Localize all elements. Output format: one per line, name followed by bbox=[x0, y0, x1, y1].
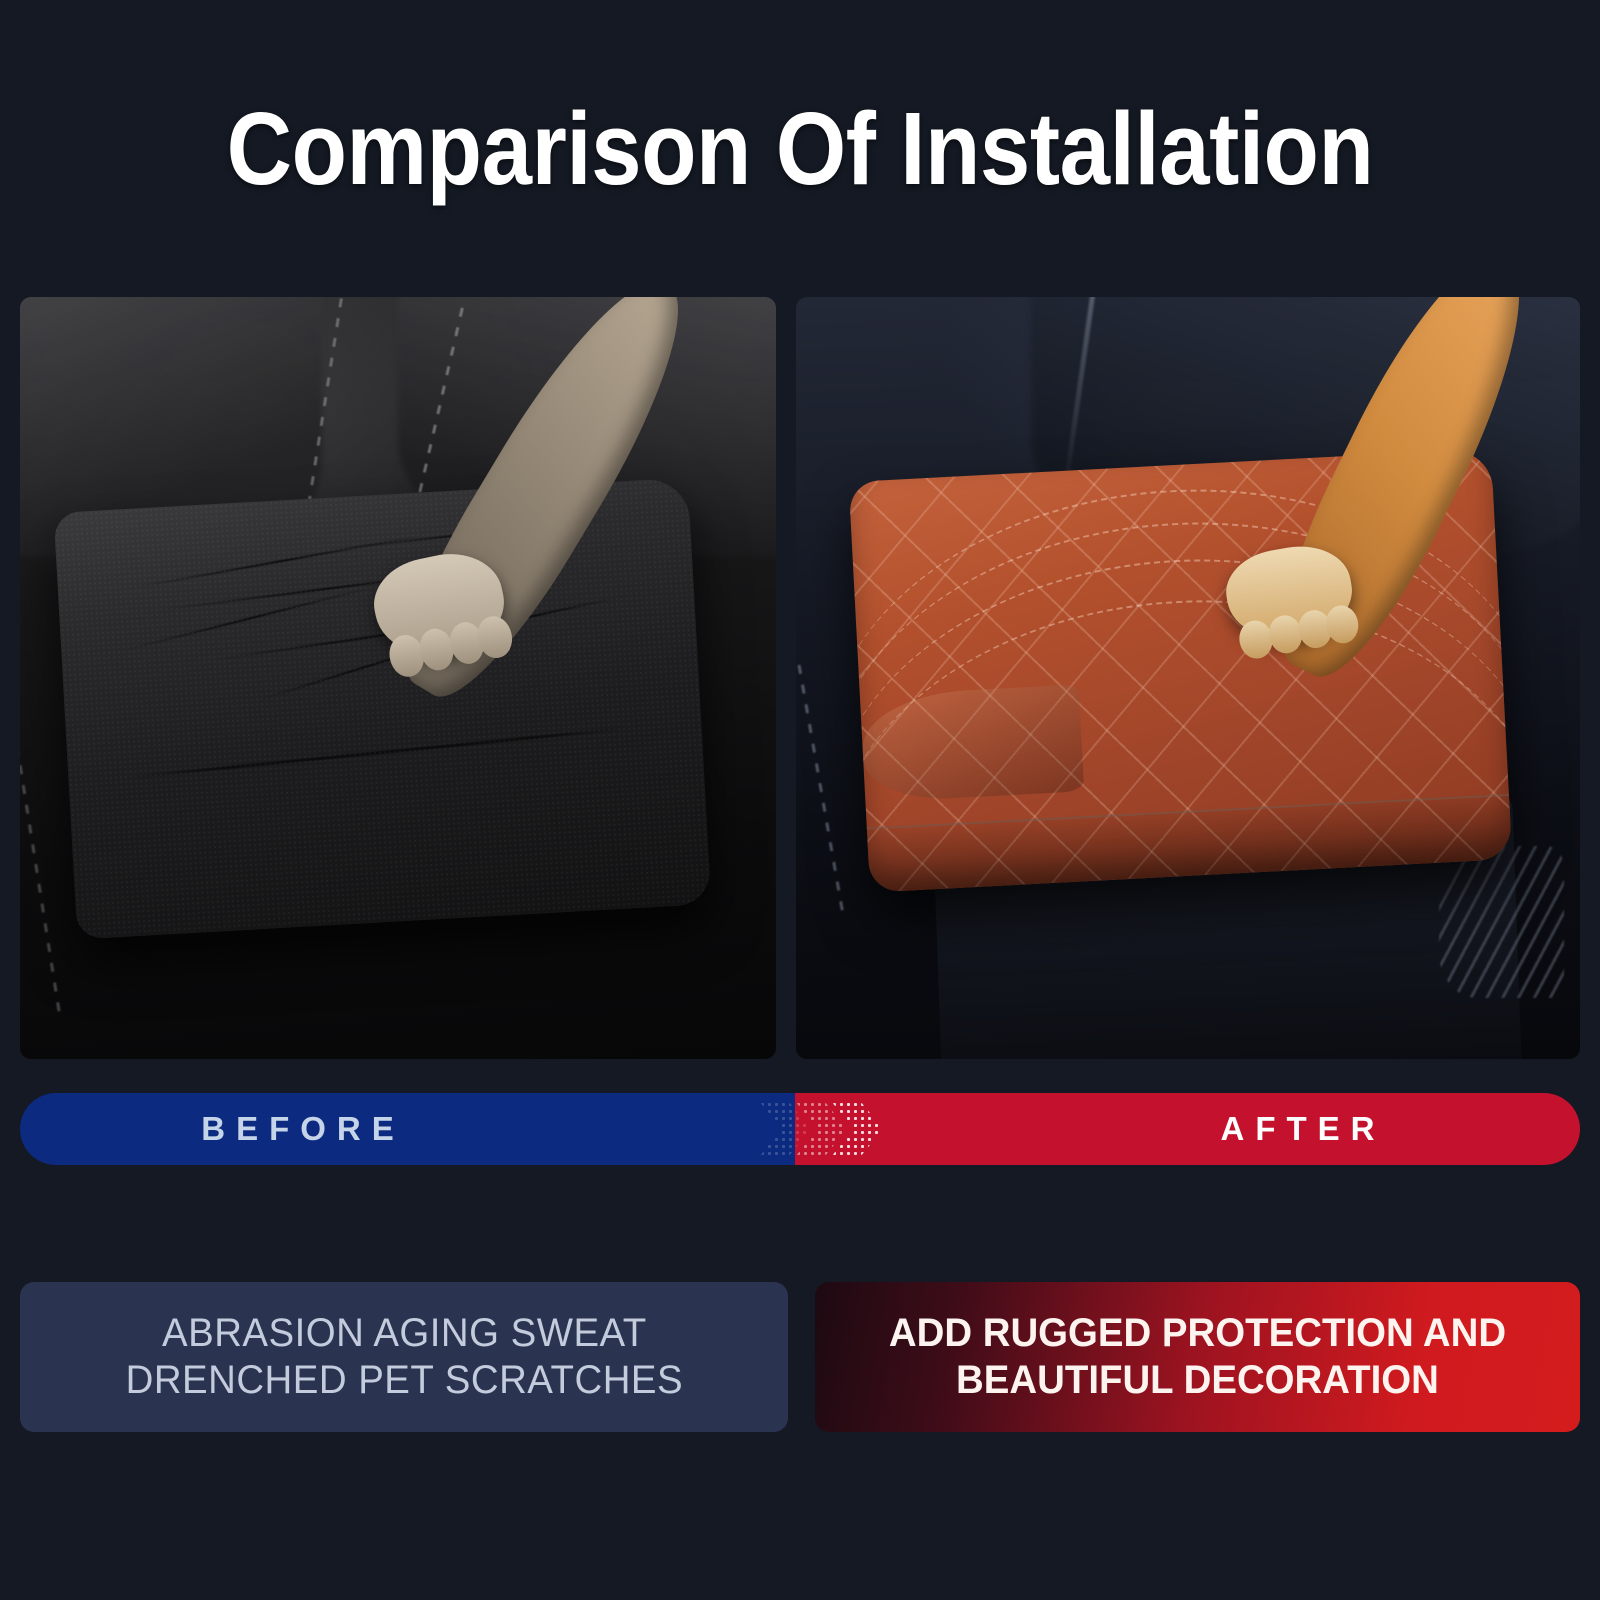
scratch-mark bbox=[127, 586, 374, 650]
before-label: BEFORE bbox=[201, 1110, 405, 1148]
after-caption-text: ADD RUGGED PROTECTION AND BEAUTIFUL DECO… bbox=[889, 1310, 1506, 1404]
product-comparison-page: Comparison Of Installation bbox=[0, 0, 1600, 1600]
before-caption-line1: ABRASION AGING SWEAT bbox=[162, 1311, 647, 1355]
after-caption-line2: BEAUTIFUL DECORATION bbox=[956, 1358, 1439, 1402]
dashboard-vent bbox=[1439, 846, 1564, 998]
banner-before-half: BEFORE bbox=[20, 1093, 795, 1165]
after-caption-line1: ADD RUGGED PROTECTION AND bbox=[889, 1311, 1506, 1355]
before-photo-scene bbox=[20, 297, 776, 1059]
before-photo bbox=[20, 297, 776, 1059]
banner-after-half: AFTER bbox=[795, 1093, 1580, 1165]
photo-comparison-row bbox=[20, 297, 1580, 1059]
before-caption-line2: DRENCHED PET SCRATCHES bbox=[125, 1358, 682, 1402]
caption-row: ABRASION AGING SWEAT DRENCHED PET SCRATC… bbox=[20, 1282, 1580, 1432]
scratch-mark bbox=[135, 535, 423, 589]
before-after-banner: BEFORE AFTER bbox=[20, 1093, 1580, 1165]
before-caption-box: ABRASION AGING SWEAT DRENCHED PET SCRATC… bbox=[20, 1282, 788, 1432]
after-photo-scene bbox=[796, 297, 1580, 1059]
double-chevron-right-icon bbox=[755, 1093, 885, 1165]
bare-armrest bbox=[54, 478, 712, 940]
before-caption-text: ABRASION AGING SWEAT DRENCHED PET SCRATC… bbox=[125, 1310, 682, 1404]
after-photo bbox=[796, 297, 1580, 1059]
after-caption-box: ADD RUGGED PROTECTION AND BEAUTIFUL DECO… bbox=[815, 1282, 1580, 1432]
armrest-seam bbox=[126, 727, 632, 780]
page-title: Comparison Of Installation bbox=[96, 95, 1504, 203]
after-label: AFTER bbox=[1221, 1110, 1386, 1148]
